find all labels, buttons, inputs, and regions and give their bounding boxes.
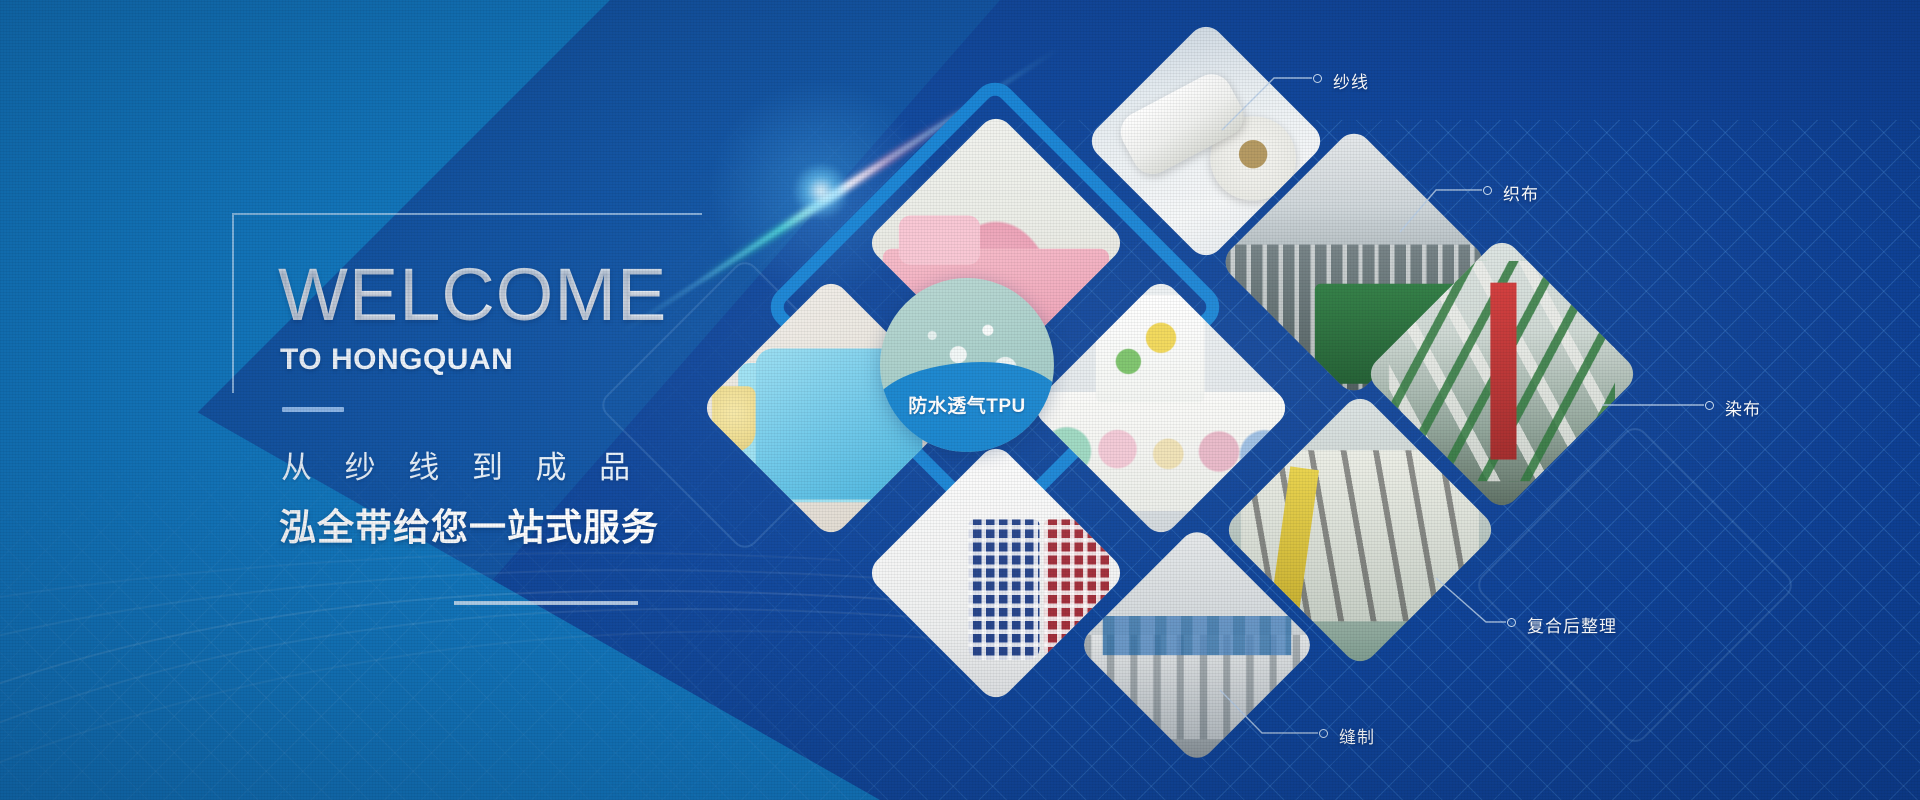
diamond-collage: 防水透气TPU xyxy=(0,0,1920,800)
callout-dot-icon xyxy=(1483,186,1492,195)
callout-label: 缝制 xyxy=(1339,723,1375,748)
callout-dot-icon xyxy=(1313,74,1322,83)
callout-label: 复合后整理 xyxy=(1527,612,1617,637)
callout-dot-icon xyxy=(1705,401,1714,410)
callout-label: 纱线 xyxy=(1333,68,1369,93)
callout-dot-icon xyxy=(1507,618,1516,627)
product-tile-apron[interactable] xyxy=(864,441,1127,704)
tpu-feature-badge[interactable]: 防水透气TPU xyxy=(880,278,1054,452)
badge-label: 防水透气TPU xyxy=(880,391,1054,418)
callout-label: 织布 xyxy=(1503,180,1539,205)
callout-label: 染布 xyxy=(1725,395,1761,420)
welcome-banner: WELCOME TO HONGQUAN 从 纱 线 到 成 品 泓全带给您一站式… xyxy=(0,0,1920,800)
callout-dot-icon xyxy=(1319,729,1328,738)
